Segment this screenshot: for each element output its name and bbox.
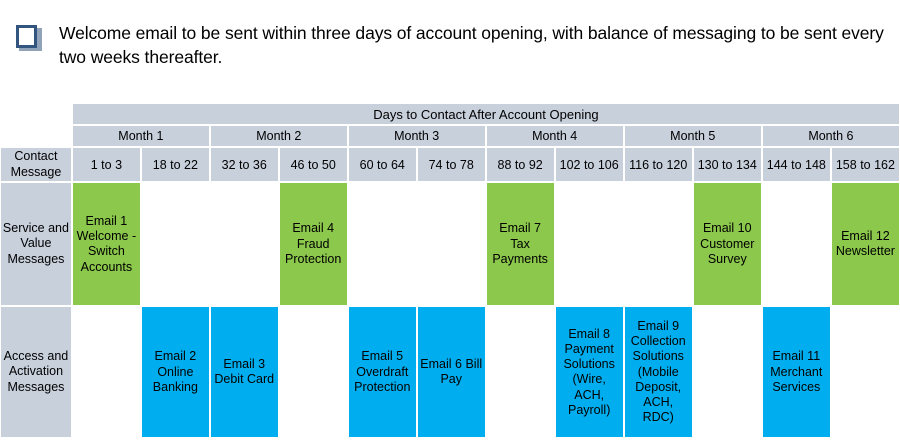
day-range-header-8: 102 to 106 (555, 147, 624, 182)
day-range-header-1: 1 to 3 (72, 147, 141, 182)
matrix-cell-access-3[interactable]: Email 3 Debit Card (210, 306, 279, 438)
corner-blank-month (0, 125, 72, 147)
day-range-header-9: 116 to 120 (624, 147, 693, 182)
matrix-super-header-row: Days to Contact After Account Opening (0, 103, 900, 125)
month-header-5: Month 5 (624, 125, 762, 147)
matrix-row-service-and-value: Service and Value Messages Email 1 Welco… (0, 182, 900, 306)
matrix-cell-service-1[interactable]: Email 1 Welcome - Switch Accounts (72, 182, 141, 306)
day-range-header-7: 88 to 92 (486, 147, 555, 182)
matrix-cell-service-2 (141, 182, 210, 306)
matrix-row-access-and-activation: Access and Activation Messages Email 2 O… (0, 306, 900, 438)
matrix-cell-access-1 (72, 306, 141, 438)
day-range-header-12: 158 to 162 (831, 147, 900, 182)
matrix-cell-service-11 (762, 182, 831, 306)
square-bullet-icon (16, 25, 42, 51)
month-header-6: Month 6 (762, 125, 900, 147)
day-range-header-10: 130 to 134 (693, 147, 762, 182)
month-header-3: Month 3 (348, 125, 486, 147)
bullet-box (16, 25, 37, 48)
day-range-header-5: 60 to 64 (348, 147, 417, 182)
month-header-4: Month 4 (486, 125, 624, 147)
matrix-cell-service-6 (417, 182, 486, 306)
matrix-day-header-row: Contact Message 1 to 3 18 to 22 32 to 36… (0, 147, 900, 182)
corner-label-contact-message: Contact Message (0, 147, 72, 182)
corner-blank-top (0, 103, 72, 125)
day-range-header-2: 18 to 22 (141, 147, 210, 182)
row-label-access-and-activation: Access and Activation Messages (0, 306, 72, 438)
matrix-cell-service-12[interactable]: Email 12 Newsletter (831, 182, 900, 306)
matrix-cell-service-5 (348, 182, 417, 306)
matrix-month-header-row: Month 1 Month 2 Month 3 Month 4 Month 5 … (0, 125, 900, 147)
matrix-cell-access-10 (693, 306, 762, 438)
matrix-cell-service-3 (210, 182, 279, 306)
matrix-cell-access-11[interactable]: Email 11 Merchant Services (762, 306, 831, 438)
row-label-service-and-value: Service and Value Messages (0, 182, 72, 306)
month-header-1: Month 1 (72, 125, 210, 147)
matrix-cell-access-12 (831, 306, 900, 438)
matrix-cell-access-9[interactable]: Email 9 Collection Solutions (Mobile Dep… (624, 306, 693, 438)
matrix-cell-service-7[interactable]: Email 7 Tax Payments (486, 182, 555, 306)
day-range-header-6: 74 to 78 (417, 147, 486, 182)
matrix-cell-access-7 (486, 306, 555, 438)
matrix-cell-access-6[interactable]: Email 6 Bill Pay (417, 306, 486, 438)
callout-banner: Welcome email to be sent within three da… (0, 0, 900, 100)
matrix-cell-service-8 (555, 182, 624, 306)
day-range-header-4: 46 to 50 (279, 147, 348, 182)
callout-text: Welcome email to be sent within three da… (59, 22, 890, 69)
day-range-header-11: 144 to 148 (762, 147, 831, 182)
matrix-cell-access-4 (279, 306, 348, 438)
super-header-days-to-contact: Days to Contact After Account Opening (72, 103, 900, 125)
day-range-header-3: 32 to 36 (210, 147, 279, 182)
matrix-cell-access-2[interactable]: Email 2 Online Banking (141, 306, 210, 438)
contact-schedule-matrix: Days to Contact After Account Opening Mo… (0, 103, 900, 438)
matrix-cell-access-8[interactable]: Email 8 Payment Solutions (Wire, ACH, Pa… (555, 306, 624, 438)
matrix-cell-service-10[interactable]: Email 10 Customer Survey (693, 182, 762, 306)
month-header-2: Month 2 (210, 125, 348, 147)
matrix-cell-service-9 (624, 182, 693, 306)
matrix-cell-access-5[interactable]: Email 5 Overdraft Protection (348, 306, 417, 438)
matrix-cell-service-4[interactable]: Email 4 Fraud Protection (279, 182, 348, 306)
